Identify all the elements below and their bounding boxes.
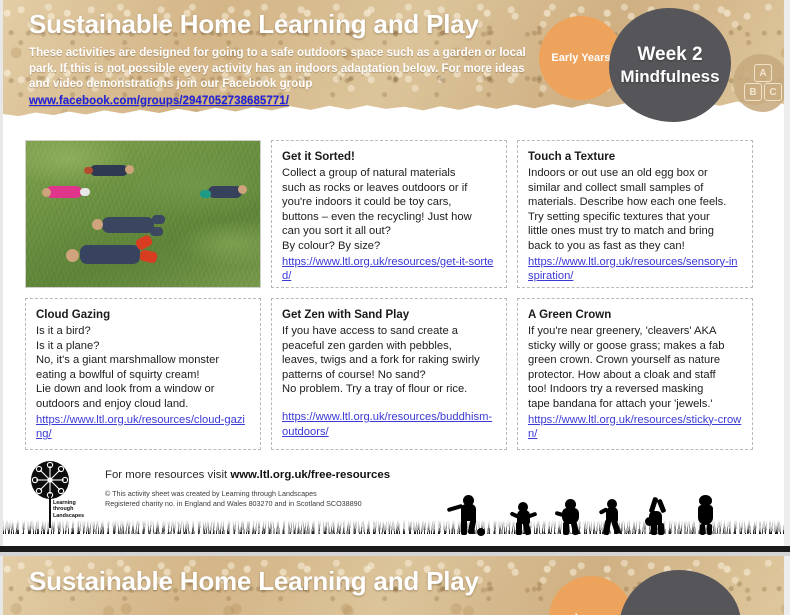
silhouette-child-ball <box>447 495 491 535</box>
photo-child-3 <box>196 183 252 205</box>
page-title: Sustainable Home Learning and Play <box>29 9 479 40</box>
abc-blocks-icon: A B C <box>743 62 783 106</box>
card-body: Collect a group of natural materials suc… <box>282 166 496 254</box>
card-title: Cloud Gazing <box>36 308 250 323</box>
footer-resources-prefix: For more resources visit <box>105 469 230 481</box>
page-title-2: Sustainable Home Learning and Play <box>29 566 479 597</box>
photo-child-1 <box>84 161 136 181</box>
week-theme-badge: Week 2 Mindfulness <box>609 8 731 122</box>
theme-label: Mindfulness <box>620 66 719 87</box>
card-body: If you're near greenery, 'cleavers' AKA … <box>528 324 742 412</box>
activity-sheet-1: Sustainable Home Learning and Play These… <box>0 0 790 548</box>
activity-sheet-page: Sustainable Home Learning and Play These… <box>0 0 790 615</box>
dandelion-icon <box>21 460 83 504</box>
intro-paragraph: These activities are designed for going … <box>29 45 529 108</box>
card-link[interactable]: https://www.ltl.org.uk/resources/buddhis… <box>282 410 496 439</box>
card-title: Touch a Texture <box>528 150 742 165</box>
facebook-group-link[interactable]: www.facebook.com/groups/2947052738685771… <box>29 93 289 109</box>
cloud-gazing-photo <box>25 140 261 288</box>
card-link[interactable]: https://www.ltl.org.uk/resources/get-it-… <box>282 255 496 284</box>
block-b: B <box>744 83 762 101</box>
silhouette-child-run-1 <box>509 502 541 535</box>
card-body: If you have access to sand create a peac… <box>282 324 496 397</box>
photo-child-2 <box>42 183 94 203</box>
footer-resources-line: For more resources visit www.ltl.org.uk/… <box>105 468 390 483</box>
silhouette-child-run-2 <box>555 499 589 535</box>
activity-card-get-zen-with-sand-play: Get Zen with Sand Play If you have acces… <box>271 298 507 450</box>
card-body: Indoors or out use an old egg box or sim… <box>528 166 742 254</box>
activity-sheet-2: Sustainable Home Learning and Play Lower… <box>0 556 790 615</box>
silhouette-child-run-3 <box>599 499 629 535</box>
logo-text: Learning through Landscapes <box>53 500 84 519</box>
sheet1-footer: Learning through Landscapes For more res… <box>3 456 784 548</box>
footer-text-block: For more resources visit www.ltl.org.uk/… <box>105 468 390 508</box>
activity-card-a-green-crown: A Green Crown If you're near greenery, '… <box>517 298 753 450</box>
week-theme-badge-2: Week 2 <box>619 570 741 615</box>
activity-card-cloud-gazing: Cloud Gazing Is it a bird? Is it a plane… <box>25 298 261 450</box>
children-silhouette-band <box>3 502 784 548</box>
sheet1-header-banner: Sustainable Home Learning and Play These… <box>3 0 784 126</box>
sheet-separator <box>0 546 790 556</box>
footer-legal-text: © This activity sheet was created by Lea… <box>105 489 390 508</box>
activity-card-touch-a-texture: Touch a Texture Indoors or out use an ol… <box>517 140 753 288</box>
block-c: C <box>764 83 782 101</box>
block-a: A <box>754 64 772 82</box>
card-body: Is it a bird? Is it a plane? No, it's a … <box>36 324 250 412</box>
intro-text: These activities are designed for going … <box>29 46 526 90</box>
silhouette-child-cartwheel <box>639 497 673 535</box>
silhouette-child-standing <box>691 495 721 535</box>
photo-child-4 <box>88 211 173 239</box>
activity-card-grid: Get it Sorted! Collect a group of natura… <box>25 140 765 450</box>
logo-stem <box>49 494 51 528</box>
card-row-2: Cloud Gazing Is it a bird? Is it a plane… <box>25 298 765 450</box>
sheet2-header-banner: Sustainable Home Learning and Play Lower… <box>3 556 784 615</box>
sheet-separator-line <box>0 552 790 556</box>
card-link[interactable]: https://www.ltl.org.uk/resources/sticky-… <box>528 413 742 442</box>
audience-badge-label: Early Years <box>551 52 610 64</box>
audience-badge-2: Lower <box>549 576 633 615</box>
activity-card-get-it-sorted: Get it Sorted! Collect a group of natura… <box>271 140 507 288</box>
card-title: Get Zen with Sand Play <box>282 308 496 323</box>
week-label: Week 2 <box>637 44 702 66</box>
card-title: A Green Crown <box>528 308 742 323</box>
photo-child-5 <box>60 237 170 271</box>
card-link[interactable]: https://www.ltl.org.uk/resources/sensory… <box>528 255 742 284</box>
card-row-1: Get it Sorted! Collect a group of natura… <box>25 140 765 288</box>
ltl-logo: Learning through Landscapes <box>21 460 83 530</box>
card-title: Get it Sorted! <box>282 150 496 165</box>
card-link[interactable]: https://www.ltl.org.uk/resources/cloud-g… <box>36 413 250 442</box>
footer-resources-url[interactable]: www.ltl.org.uk/free-resources <box>230 469 390 481</box>
